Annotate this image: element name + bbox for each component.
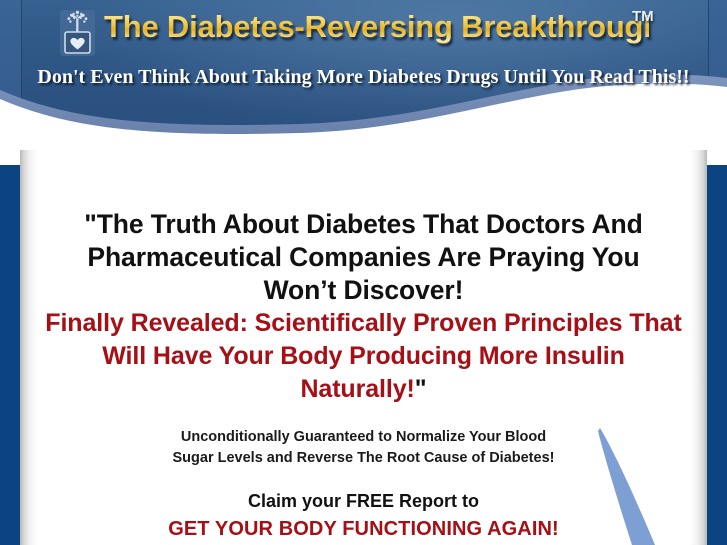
guarantee-text: Unconditionally Guaranteed to Normalize … bbox=[38, 427, 689, 469]
headline-red: Finally Revealed: Scientifically Proven … bbox=[38, 307, 689, 406]
guarantee-line1: Unconditionally Guaranteed to Normalize … bbox=[38, 427, 689, 448]
right-page-margin bbox=[707, 165, 727, 545]
headline-end-quote: " bbox=[415, 375, 427, 403]
headline-black-line1: "The Truth About Diabetes That Doctors A… bbox=[44, 208, 683, 241]
headline-red-line3-text: Naturally! bbox=[300, 375, 414, 403]
headline-black-line2: Pharmaceutical Companies Are Praying You bbox=[44, 241, 683, 274]
header-banner: The Diabetes-Reversing Breakthrough TM D… bbox=[0, 0, 727, 150]
guarantee-line2: Sugar Levels and Reverse The Root Cause … bbox=[38, 448, 689, 469]
call-to-action-line: GET YOUR BODY FUNCTIONING AGAIN! bbox=[38, 516, 689, 542]
left-panel-bevel bbox=[20, 140, 38, 545]
tree-in-heart-box-icon bbox=[59, 9, 96, 57]
headline-black-line3: Won’t Discover! bbox=[44, 274, 683, 307]
headline-red-line3: Naturally!" bbox=[300, 375, 426, 403]
banner-title: The Diabetes-Reversing Breakthrough bbox=[104, 9, 649, 45]
claim-report-line: Claim your FREE Report to bbox=[38, 489, 689, 513]
right-panel-bevel bbox=[689, 140, 707, 545]
trademark-symbol: TM bbox=[632, 8, 654, 25]
headline-red-line1: Finally Revealed: Scientifically Proven … bbox=[45, 309, 622, 337]
landing-page: The Diabetes-Reversing Breakthrough TM D… bbox=[0, 0, 727, 545]
headline-black: "The Truth About Diabetes That Doctors A… bbox=[38, 208, 689, 307]
banner-subtitle: Don't Even Think About Taking More Diabe… bbox=[0, 66, 727, 89]
main-copy: "The Truth About Diabetes That Doctors A… bbox=[38, 150, 689, 542]
left-page-margin bbox=[0, 165, 20, 545]
